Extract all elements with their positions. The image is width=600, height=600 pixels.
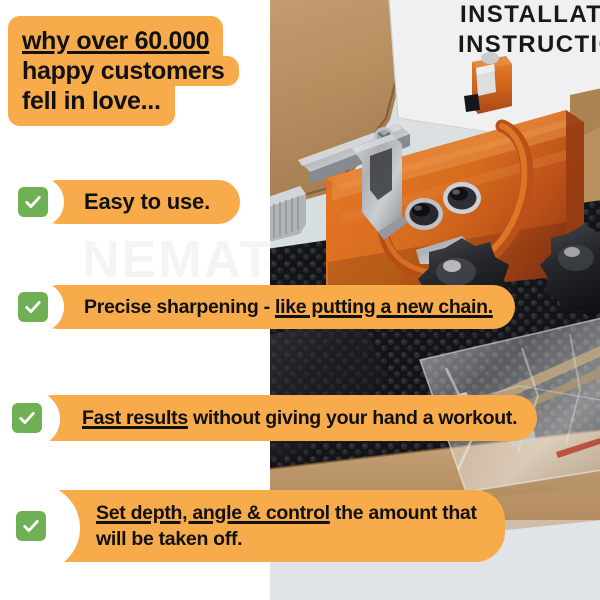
check-glyph bbox=[23, 192, 43, 212]
feature-pill-fast-results: Fast results without giving your hand a … bbox=[30, 395, 537, 441]
check-icon bbox=[12, 403, 42, 433]
check-icon bbox=[18, 187, 48, 217]
feature-item-fast-results: Fast results without giving your hand a … bbox=[12, 395, 537, 441]
feature-pill-easy-to-use: Easy to use. bbox=[36, 180, 240, 224]
headline-line-1: why over 60.000 bbox=[8, 16, 223, 56]
feature-pill-precise-sharpening: Precise sharpening - like putting a new … bbox=[36, 285, 515, 329]
check-glyph bbox=[23, 297, 43, 317]
feature-text-line-1: Set depth, angle & control the amount th… bbox=[96, 500, 477, 526]
brand-watermark: NEMAT bbox=[82, 230, 273, 290]
headline-line-2: happy customers bbox=[8, 56, 239, 86]
headline-block: why over 60.000 happy customers fell in … bbox=[8, 16, 239, 126]
feature-pill-set-depth-angle-control: Set depth, angle & control the amount th… bbox=[34, 490, 505, 562]
check-glyph bbox=[21, 516, 41, 536]
headline-line-1-text: why over 60.000 bbox=[22, 27, 209, 55]
feature-text-set-depth-angle-control: Set depth, angle & control the amount th… bbox=[96, 500, 477, 552]
feature-text-lead: Precise sharpening - bbox=[84, 296, 275, 318]
promo-graphic: INSTALLATION INSTRUCTIONS bbox=[0, 0, 600, 600]
feature-item-set-depth-angle-control: Set depth, angle & control the amount th… bbox=[16, 490, 505, 562]
feature-text-easy-to-use: Easy to use. bbox=[84, 189, 210, 215]
headline-line-3: fell in love... bbox=[8, 86, 175, 126]
feature-text-underlined: Set depth, angle & control bbox=[96, 502, 330, 524]
feature-text-underlined: like putting a new chain. bbox=[275, 296, 493, 318]
feature-text-rest: without giving your hand a workout. bbox=[188, 407, 517, 429]
check-icon bbox=[18, 292, 48, 322]
feature-item-easy-to-use: Easy to use. bbox=[18, 180, 240, 224]
feature-text-line-2: will be taken off. bbox=[96, 526, 477, 552]
feature-text-rest: the amount that bbox=[330, 502, 477, 524]
feature-text-fast-results: Fast results without giving your hand a … bbox=[82, 406, 517, 430]
feature-item-precise-sharpening: Precise sharpening - like putting a new … bbox=[18, 285, 515, 329]
feature-text-precise-sharpening: Precise sharpening - like putting a new … bbox=[84, 295, 493, 319]
feature-text-underlined: Fast results bbox=[82, 407, 188, 429]
check-icon bbox=[16, 511, 46, 541]
check-glyph bbox=[17, 408, 37, 428]
